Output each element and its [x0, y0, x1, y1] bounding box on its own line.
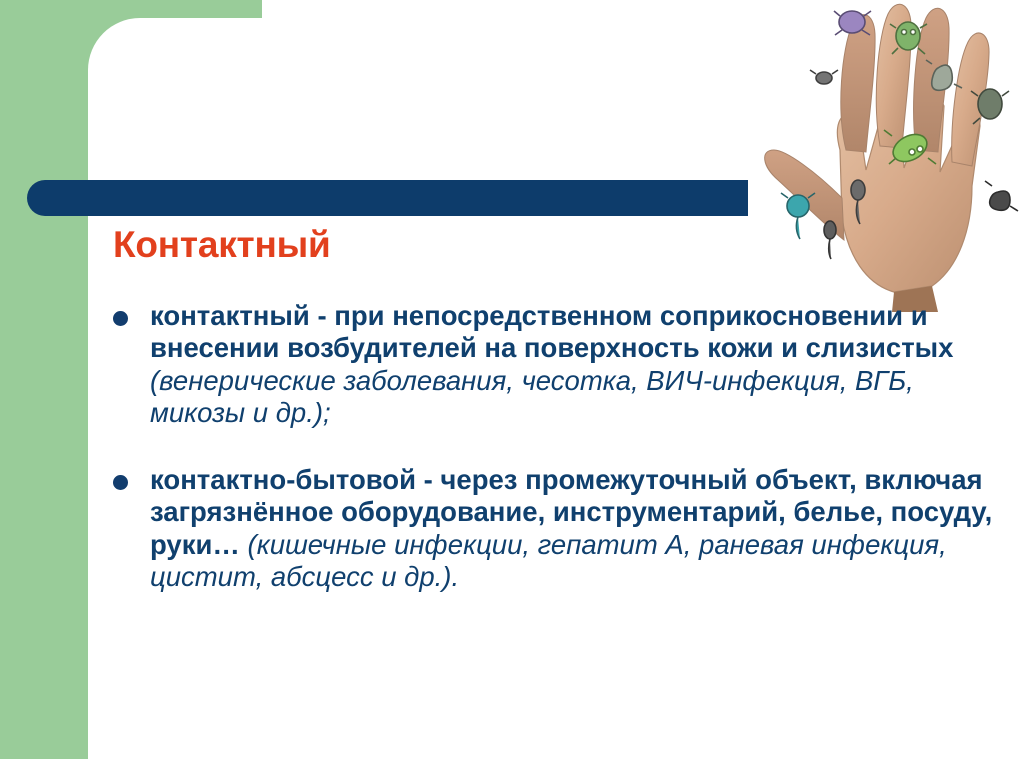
- bullet-dot-icon: [113, 311, 128, 326]
- bullet-italic-text: (венерические заболевания, чесотка, ВИЧ-…: [150, 365, 914, 428]
- list-item: контактно-бытовой - через промежуточный …: [108, 464, 1008, 594]
- bullet-dot-icon: [113, 475, 128, 490]
- blue-title-bar: [27, 180, 748, 216]
- bullet-list: контактный - при непосредственном соприк…: [108, 300, 1008, 628]
- slide-canvas: Контактный контактный - при непосредстве…: [0, 0, 1024, 767]
- bullet-bold-text: контактный - при непосредственном соприк…: [150, 300, 953, 363]
- bullet-italic-text: (кишечные инфекции, гепатит А, раневая и…: [150, 529, 947, 592]
- hand-with-germs-illustration: [762, 0, 1024, 312]
- list-item: контактный - при непосредственном соприк…: [108, 300, 1008, 430]
- page-title: Контактный: [113, 224, 331, 266]
